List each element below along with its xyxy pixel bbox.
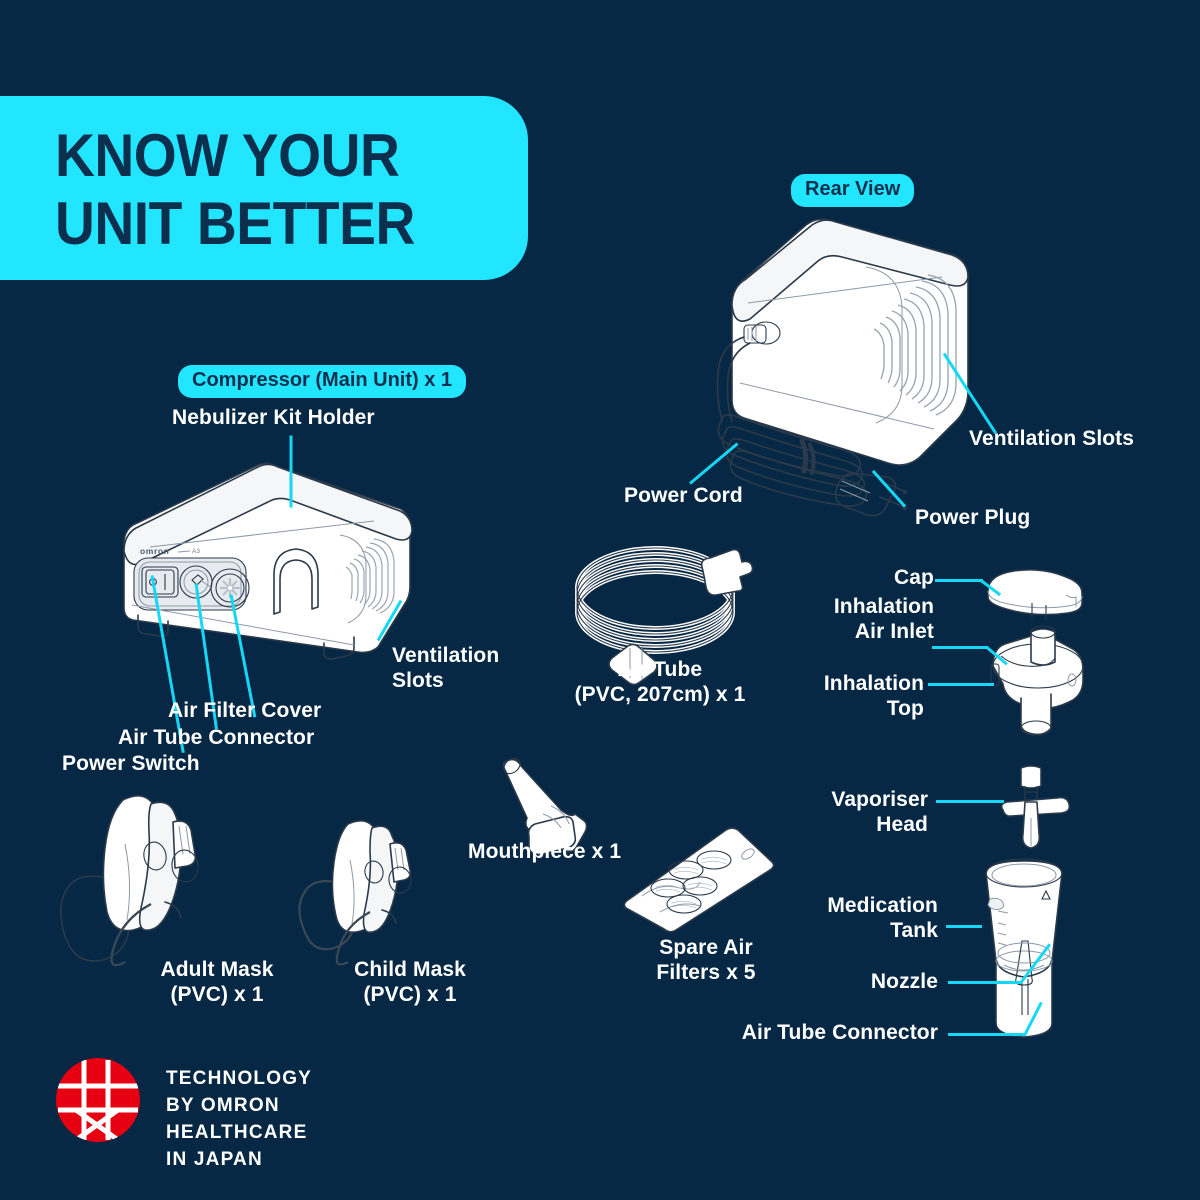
infographic-canvas: KNOW YOUR UNIT BETTER Compressor (Main U… (0, 0, 1200, 1200)
label-adult-mask: Adult Mask (PVC) x 1 (122, 958, 312, 1008)
label-mouthpiece: Mouthpiece x 1 (468, 840, 621, 865)
main-unit-illustration: omron A3 (108, 455, 418, 665)
leader-tank-air-tube-connector (948, 1033, 1026, 1036)
label-cap: Cap (826, 566, 934, 591)
label-spare-air-filters: Spare Air Filters x 5 (626, 936, 786, 986)
label-power-switch: Power Switch (62, 752, 200, 777)
leader-cap (935, 579, 983, 582)
title-line-1: KNOW YOUR (55, 126, 399, 186)
label-power-plug: Power Plug (915, 506, 1030, 531)
leader-vaporiser-head (936, 800, 1004, 803)
omron-japan-logo-icon (56, 1058, 140, 1142)
label-air-filter-cover: Air Filter Cover (168, 699, 321, 724)
label-nozzle: Nozzle (850, 970, 938, 995)
leader-nozzle (948, 981, 1022, 984)
child-mask-illustration (290, 812, 470, 972)
svg-text:omron: omron (140, 546, 169, 556)
mouthpiece-illustration (495, 758, 605, 853)
spare-air-filters-illustration (620, 826, 780, 936)
label-vaporiser-head: Vaporiser Head (798, 788, 928, 838)
inhalation-top-illustration (975, 620, 1095, 740)
label-air-tube: Air Tube (PVC, 207cm) x 1 (560, 658, 760, 708)
label-power-cord: Power Cord (624, 484, 743, 509)
title-line-2: UNIT BETTER (55, 194, 415, 254)
leader-inhalation-air-inlet (932, 646, 988, 649)
svg-text:A3: A3 (192, 548, 200, 555)
label-child-mask: Child Mask (PVC) x 1 (320, 958, 500, 1008)
rear-unit-illustration (690, 215, 1030, 515)
adult-mask-illustration (55, 786, 265, 966)
badge-compressor: Compressor (Main Unit) x 1 (178, 365, 466, 398)
label-nebulizer-kit-holder: Nebulizer Kit Holder (172, 406, 375, 431)
cap-illustration (980, 565, 1090, 625)
leader-medication-tank (946, 925, 982, 928)
label-medication-tank: Medication Tank (810, 894, 938, 944)
label-inhalation-top: Inhalation Top (800, 672, 924, 722)
label-rear-ventilation-slots: Ventilation Slots (969, 427, 1134, 452)
leader-nebulizer-kit-holder (290, 436, 293, 508)
leader-inhalation-top (928, 683, 994, 686)
label-tank-air-tube-connector: Air Tube Connector (710, 1021, 938, 1046)
label-ventilation-slots-main: Ventilation Slots (392, 644, 499, 694)
label-air-tube-connector-main: Air Tube Connector (118, 726, 314, 751)
medication-tank-illustration (960, 855, 1090, 1045)
label-inhalation-air-inlet: Inhalation Air Inlet (800, 595, 934, 645)
air-tube-connector-end-top (702, 550, 753, 596)
vaporiser-head-illustration (995, 762, 1085, 852)
title-banner: KNOW YOUR UNIT BETTER (0, 96, 528, 280)
footer-text: TECHNOLOGY BY OMRON HEALTHCARE IN JAPAN (166, 1066, 312, 1174)
badge-rear-view: Rear View (791, 174, 914, 207)
